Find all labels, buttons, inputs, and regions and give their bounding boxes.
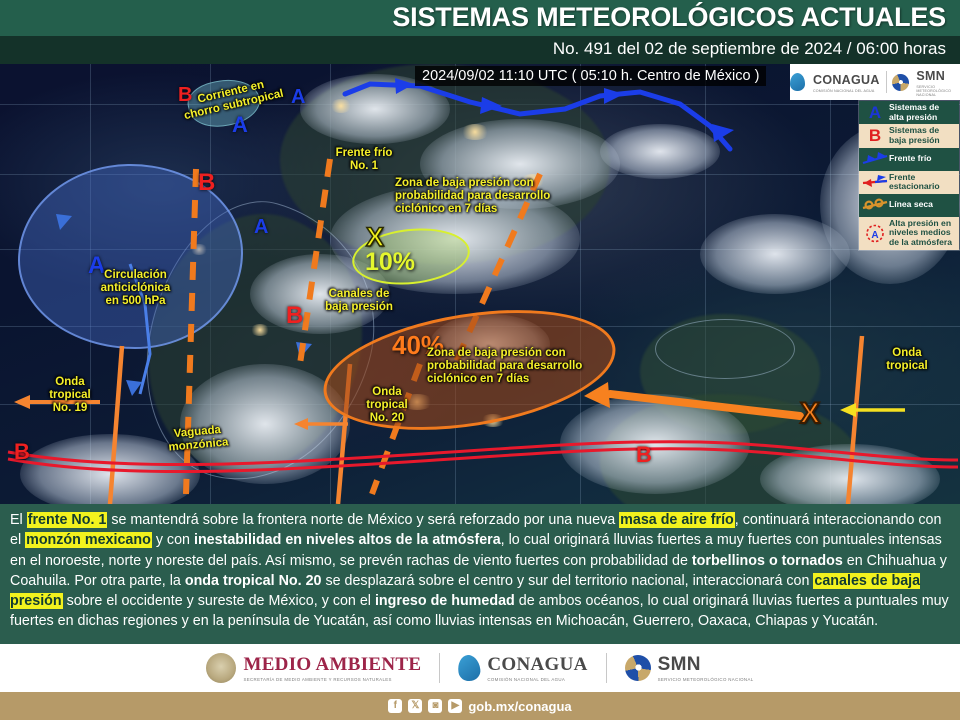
x-marker-east: X bbox=[800, 399, 820, 429]
facebook-icon[interactable]: f bbox=[388, 699, 402, 713]
mexico-seal-icon bbox=[206, 653, 236, 683]
legend-item-high-pressure[interactable]: A Sistemas de alta presión bbox=[859, 101, 959, 124]
header-bar: SISTEMAS METEOROLÓGICOS ACTUALES bbox=[0, 0, 960, 36]
low-pressure-symbol: B bbox=[286, 302, 303, 330]
low-pressure-symbol: B bbox=[198, 169, 215, 197]
conagua-tagline: COMISIÓN NACIONAL DEL AGUA bbox=[813, 89, 880, 93]
x-twitter-icon[interactable]: 𝕏 bbox=[408, 699, 422, 713]
smn-tagline: SERVICIO METEOROLÓGICO NACIONAL bbox=[916, 85, 960, 97]
stationary-front-icon bbox=[861, 173, 889, 192]
tropical-wave-19-line bbox=[110, 346, 122, 504]
weather-bulletin-page: SISTEMAS METEOROLÓGICOS ACTUALES No. 491… bbox=[0, 0, 960, 720]
water-drop-icon bbox=[790, 73, 806, 91]
header-subbar: No. 491 del 02 de septiembre de 2024 / 0… bbox=[0, 36, 960, 64]
medio-ambiente-logo: MEDIO AMBIENTE SECRETARÍA DE MEDIO AMBIE… bbox=[206, 653, 421, 683]
pointer-arrow-40 bbox=[584, 382, 800, 416]
probability-10: 10% bbox=[365, 248, 415, 277]
tropical-wave-east-arrow bbox=[840, 403, 905, 417]
legend-item-stationary-front[interactable]: Frente estacionario bbox=[859, 171, 959, 194]
footer-smn-name: SMN bbox=[658, 654, 701, 675]
legend-item-mid-level-high[interactable]: A Alta presión en niveles medios de la a… bbox=[859, 217, 959, 250]
conagua-logo: CONAGUA COMISIÓN NACIONAL DEL AGUA bbox=[790, 71, 880, 93]
annotation-cold-front-1: Frente frío No. 1 bbox=[308, 147, 420, 173]
footer-conagua-tagline: COMISIÓN NACIONAL DEL AGUA bbox=[487, 677, 587, 682]
cold-front-barb bbox=[56, 214, 72, 230]
legend-label: Frente estacionario bbox=[889, 173, 956, 192]
footer-smn-logo: SMN SERVICIO METEOROLÓGICO NACIONAL bbox=[625, 654, 754, 682]
youtube-icon[interactable]: ▶ bbox=[448, 699, 462, 713]
cold-front-line bbox=[345, 84, 730, 149]
smn-logo: SMN SERVICIO METEOROLÓGICO NACIONAL bbox=[892, 67, 960, 97]
spiral-icon bbox=[892, 74, 909, 91]
high-pressure-A-icon: A bbox=[861, 103, 889, 122]
legend-label: Línea seca bbox=[889, 200, 956, 210]
mid-level-high-icon: A bbox=[861, 224, 889, 243]
footer-divider bbox=[606, 653, 607, 683]
conagua-name: CONAGUA bbox=[813, 73, 880, 87]
legend-item-dry-line[interactable]: Línea seca bbox=[859, 194, 959, 217]
annotation-low-zone-10: Zona de baja presión con probabilidad pa… bbox=[395, 177, 610, 217]
smn-name: SMN bbox=[916, 69, 945, 83]
legend-label: Sistemas de alta presión bbox=[889, 103, 956, 122]
cold-front-icon bbox=[861, 150, 889, 169]
legend-label: Alta presión en niveles medios de la atm… bbox=[889, 219, 956, 248]
discussion-paragraph: El frente No. 1 se mantendrá sobre la fr… bbox=[10, 510, 950, 632]
footer-conagua-name: CONAGUA bbox=[487, 654, 587, 675]
water-drop-icon bbox=[457, 654, 482, 683]
footer-social-bar: f 𝕏 ◙ ▶ gob.mx/conagua bbox=[0, 692, 960, 720]
map-legend[interactable]: A Sistemas de alta presión B Sistemas de… bbox=[858, 100, 960, 251]
annotation-tropical-wave-19: Onda tropical No. 19 bbox=[34, 376, 106, 416]
instagram-icon[interactable]: ◙ bbox=[428, 699, 442, 713]
legend-label: Frente frío bbox=[889, 154, 956, 164]
legend-item-low-pressure[interactable]: B Sistemas de baja presión bbox=[859, 124, 959, 147]
dry-line-icon bbox=[861, 196, 889, 215]
legend-label: Sistemas de baja presión bbox=[889, 126, 956, 145]
high-pressure-symbol: A bbox=[232, 112, 248, 138]
forecast-discussion: El frente No. 1 se mantendrá sobre la fr… bbox=[0, 504, 960, 644]
annotation-tropical-wave-east: Onda tropical bbox=[872, 347, 942, 373]
logo-divider bbox=[886, 71, 887, 93]
website-url[interactable]: gob.mx/conagua bbox=[468, 699, 571, 714]
annotation-low-pressure-channels: Canales de baja presión bbox=[310, 288, 408, 314]
footer-smn-tagline: SERVICIO METEOROLÓGICO NACIONAL bbox=[658, 677, 754, 682]
medio-ambiente-tagline: SECRETARÍA DE MEDIO AMBIENTE Y RECURSOS … bbox=[243, 677, 421, 682]
low-pressure-symbol: B bbox=[636, 442, 652, 468]
x-marker-10: X bbox=[366, 224, 384, 251]
footer-conagua-logo: CONAGUA COMISIÓN NACIONAL DEL AGUA bbox=[458, 654, 587, 682]
tropical-wave-east-line bbox=[848, 336, 862, 504]
tropical-wave-20-arrow bbox=[294, 418, 348, 430]
bulletin-number-date: No. 491 del 02 de septiembre de 2024 / 0… bbox=[553, 39, 946, 59]
annotation-low-zone-40: Zona de baja presión con probabilidad pa… bbox=[427, 347, 607, 387]
legend-item-cold-front[interactable]: Frente frío bbox=[859, 148, 959, 171]
page-title: SISTEMAS METEOROLÓGICOS ACTUALES bbox=[392, 2, 946, 33]
footer-logos: MEDIO AMBIENTE SECRETARÍA DE MEDIO AMBIE… bbox=[0, 644, 960, 692]
annotation-anticyclone: Circulación anticiclónica en 500 hPa bbox=[68, 269, 203, 309]
low-pressure-B-icon: B bbox=[861, 126, 889, 145]
medio-ambiente-name: MEDIO AMBIENTE bbox=[243, 654, 421, 675]
map-org-logos: CONAGUA COMISIÓN NACIONAL DEL AGUA SMN S… bbox=[790, 64, 960, 100]
high-pressure-symbol: A bbox=[254, 216, 268, 239]
satellite-map[interactable]: X X 10% 40% A A A A B B B B B Corriente … bbox=[0, 64, 960, 504]
dry-line bbox=[300, 159, 330, 364]
map-timestamp: 2024/09/02 11:10 UTC ( 05:10 h. Centro d… bbox=[415, 66, 766, 86]
footer-divider bbox=[439, 653, 440, 683]
spiral-icon bbox=[625, 655, 651, 681]
annotation-tropical-wave-20: Onda tropical No. 20 bbox=[352, 386, 422, 426]
svg-text:A: A bbox=[871, 230, 878, 241]
low-pressure-symbol: B bbox=[14, 439, 30, 465]
